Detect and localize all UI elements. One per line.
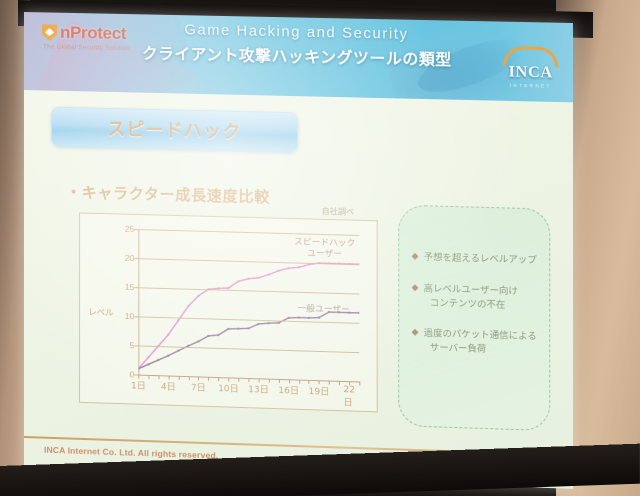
chart-container: レベル 05101520251日4日7日10日13日16日19日22日 スピード… <box>79 212 378 412</box>
chart-x-tick-mark <box>208 377 209 381</box>
chart-source-note: 自社調べ <box>322 206 355 218</box>
footer-copyright: INCA Internet Co. Ltd. All rights reserv… <box>44 445 218 461</box>
projection-photo: nProtect The Global Security Solution Ga… <box>0 0 640 496</box>
chart-y-tick-label: 25 <box>125 224 135 234</box>
bullet-text: 過度のパケット通信によるサーバー負荷 <box>424 327 537 358</box>
bullet-text: 高レベルユーザー向けコンテンツの不在 <box>424 282 518 313</box>
chart-data-point <box>308 317 310 319</box>
chart-data-point <box>207 335 209 337</box>
bullet-item: ◆過度のパケット通信によるサーバー負荷 <box>411 327 543 359</box>
chart-data-point <box>247 278 249 280</box>
bullet-item: ◆高レベルユーザー向けコンテンツの不在 <box>411 282 543 314</box>
series-label-speed-hack: スピードハックユーザー <box>282 237 368 261</box>
chart-x-tick-mark <box>309 380 310 384</box>
chart-x-tick-mark <box>269 379 270 383</box>
chart-data-point <box>257 323 259 325</box>
chart-x-tick-mark <box>359 381 360 385</box>
chart-data-point <box>268 274 270 276</box>
chart-y-tick-label: 20 <box>125 253 135 263</box>
chart-y-tick-mark <box>134 229 138 230</box>
diamond-icon: ◆ <box>411 327 418 355</box>
chart-data-point <box>227 328 229 330</box>
chart-data-point <box>177 319 179 321</box>
chart-x-tick-mark <box>178 376 179 380</box>
chart-data-point <box>177 350 179 352</box>
chart-y-tick-label: 15 <box>125 282 135 292</box>
chart-data-point <box>157 359 159 361</box>
arc-icon <box>503 46 559 67</box>
chart-x-tick-label: 4日 <box>161 379 176 393</box>
chart-data-point <box>237 328 239 330</box>
chart-x-tick-mark <box>228 377 229 381</box>
section-title-text: スピードハック <box>107 115 241 144</box>
chart-y-tick-mark <box>134 316 138 317</box>
chart-x-tick-mark <box>148 375 149 379</box>
chart-data-point <box>318 317 320 319</box>
chart-y-tick-mark <box>134 258 138 259</box>
chart-data-point <box>298 317 300 319</box>
chart-y-tick-label: 10 <box>125 311 135 321</box>
chart-data-point <box>217 334 219 336</box>
chart-data-point <box>237 280 239 282</box>
presentation-slide: nProtect The Global Security Solution Ga… <box>24 12 573 489</box>
bullet-text-line2: サーバー負荷 <box>430 341 537 358</box>
diamond-icon: ◆ <box>411 282 418 310</box>
chart-x-tick-mark <box>289 379 290 383</box>
chart-data-point <box>298 266 300 268</box>
chart-data-point <box>167 355 169 357</box>
diamond-icon: ◆ <box>411 251 418 265</box>
chart-x-tick-mark <box>158 375 159 379</box>
chart-x-tick-mark <box>319 380 320 384</box>
chart-x-tick-mark <box>329 381 330 385</box>
chart-x-tick-label: 19日 <box>309 384 330 398</box>
chart-x-tick-mark <box>299 380 300 384</box>
summary-panel: ◆予想を超えるレベルアップ◆高レベルユーザー向けコンテンツの不在◆過度のパケット… <box>398 205 550 431</box>
chart-data-point <box>257 277 259 279</box>
inca-logo: INCA INTERNET <box>503 46 559 89</box>
chart-x-tick-label: 1日 <box>131 378 146 392</box>
chart-x-tick-mark <box>168 376 169 380</box>
chart-x-tick-label: 10日 <box>218 381 239 395</box>
chart-x-tick-mark <box>218 377 219 381</box>
chart-data-point <box>147 356 149 358</box>
chart-data-point <box>278 322 280 324</box>
chart-x-tick-label: 22日 <box>343 385 355 409</box>
chart-y-tick-mark <box>134 287 138 288</box>
chart-x-tick-mark <box>279 379 280 383</box>
chart-x-tick-mark <box>238 378 239 382</box>
chart-data-point <box>138 368 139 370</box>
chart-x-tick-mark <box>138 375 139 379</box>
chart-data-point <box>197 295 199 297</box>
chart-x-tick-label: 16日 <box>278 383 299 397</box>
chart-heading: ・キャラクター成長速度比較 <box>66 181 270 207</box>
bullet-item: ◆予想を超えるレベルアップ <box>411 251 543 269</box>
chart-data-point <box>147 363 149 365</box>
chart-data-point <box>247 327 249 329</box>
chart-data-point <box>278 270 280 272</box>
chart-y-tick-mark <box>134 345 138 346</box>
chart-x-tick-mark <box>188 376 189 380</box>
bullet-text-line2: コンテンツの不在 <box>430 296 518 313</box>
chart-y-axis-label: レベル <box>88 306 114 319</box>
bullet-text: 予想を超えるレベルアップ <box>424 251 537 268</box>
chart-x-tick-label: 7日 <box>191 380 206 394</box>
chart-data-point <box>288 317 290 319</box>
chart-data-point <box>187 305 189 307</box>
chart-data-point <box>167 334 169 336</box>
chart-x-tick-label: 13日 <box>248 382 269 396</box>
section-title-pill: スピードハック <box>51 107 298 153</box>
chart-x-tick-mark <box>349 381 350 385</box>
chart-data-point <box>227 287 229 289</box>
slide-header: nProtect The Global Security Solution Ga… <box>24 12 573 102</box>
chart-data-point <box>197 340 199 342</box>
chart-x-tick-mark <box>198 376 199 380</box>
chart-data-point <box>288 267 290 269</box>
chart-data-point <box>268 322 270 324</box>
chart-x-tick-mark <box>339 381 340 385</box>
bullet-list: ◆予想を超えるレベルアップ◆高レベルユーザー向けコンテンツの不在◆過度のパケット… <box>411 251 543 376</box>
chart-x-tick-mark <box>248 378 249 382</box>
chart-x-tick-mark <box>259 378 260 382</box>
